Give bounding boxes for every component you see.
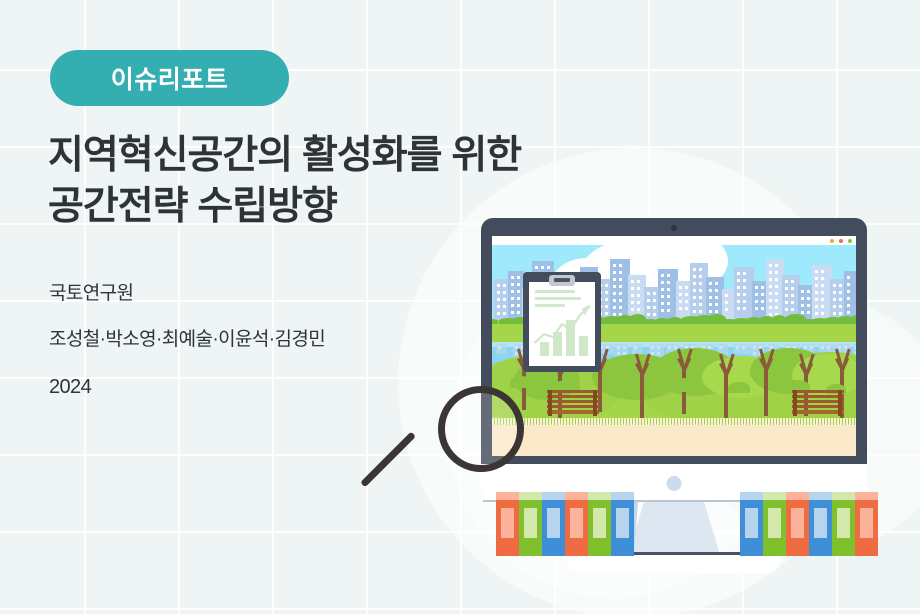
book-label	[524, 508, 537, 538]
clipboard-trend-line	[529, 282, 595, 366]
book	[855, 492, 878, 556]
book-foot	[611, 543, 634, 556]
publication-year: 2024	[49, 376, 469, 398]
clipboard-trend-arrow	[582, 305, 590, 316]
window-dot-green	[848, 239, 852, 243]
book	[763, 492, 786, 556]
book	[588, 492, 611, 556]
author-list: 조성철·박소영·최예술·이윤석·김경민	[49, 330, 469, 351]
book-label	[814, 508, 827, 538]
bench-seat	[792, 410, 844, 414]
bench-slat	[792, 395, 844, 398]
bench-slat	[547, 390, 599, 393]
clipboard-clip-inner	[554, 278, 570, 282]
monitor-base	[568, 553, 780, 573]
book-label	[501, 508, 514, 538]
book-label	[547, 508, 560, 538]
book	[611, 492, 634, 556]
book	[786, 492, 809, 556]
publication-meta: 국토연구원 조성철·박소영·최예술·이윤석·김경민 2024	[49, 284, 469, 398]
book-foot	[855, 543, 878, 556]
book-foot	[740, 543, 763, 556]
book	[740, 492, 763, 556]
book-label	[860, 508, 873, 538]
bench-slat	[792, 405, 844, 408]
book-foot	[565, 543, 588, 556]
book-label	[837, 508, 850, 538]
park-bench	[792, 390, 844, 416]
power-button	[667, 476, 682, 491]
book	[519, 492, 542, 556]
publisher-name: 국토연구원	[49, 284, 469, 305]
bench-slat	[792, 400, 844, 403]
book-label	[768, 508, 781, 538]
monitor-illustration	[481, 218, 867, 471]
bench-slat	[792, 390, 844, 393]
issue-report-badge: 이슈리포트	[50, 50, 289, 106]
clipboard-chart-content	[529, 282, 595, 366]
bench-leg	[793, 390, 797, 416]
monitor-screen	[492, 236, 856, 456]
clipboard-paper	[529, 282, 595, 366]
book	[809, 492, 832, 556]
park-bench	[547, 390, 599, 416]
poster-canvas: 이슈리포트 지역혁신공간의 활성화를 위한 공간전략 수립방향 국토연구원 조성…	[0, 0, 920, 614]
bench-leg	[593, 390, 597, 416]
magnifier-ring	[438, 386, 524, 472]
book-foot	[763, 543, 786, 556]
bench-seat	[547, 410, 599, 414]
bench-leg	[838, 390, 842, 416]
window-dot-red	[839, 239, 843, 243]
badge-label: 이슈리포트	[111, 60, 229, 96]
window-dot-orange	[830, 239, 834, 243]
book-foot	[588, 543, 611, 556]
book-foot	[786, 543, 809, 556]
bench-leg	[548, 390, 552, 416]
book-label	[593, 508, 606, 538]
book-label	[616, 508, 629, 538]
window-chrome-bar	[492, 236, 856, 245]
book	[496, 492, 519, 556]
bench-slat	[547, 400, 599, 403]
book-foot	[809, 543, 832, 556]
webcam-dot	[671, 225, 677, 231]
book-label	[570, 508, 583, 538]
book-foot	[496, 543, 519, 556]
bench-slat	[547, 405, 599, 408]
book-foot	[542, 543, 565, 556]
page-title-line-1: 지역혁신공간의 활성화를 위한	[48, 130, 648, 181]
book-label	[745, 508, 758, 538]
book-foot	[832, 543, 855, 556]
book	[832, 492, 855, 556]
clipboard-chart	[523, 272, 601, 372]
bench-slat	[547, 395, 599, 398]
book	[542, 492, 565, 556]
book-foot	[519, 543, 542, 556]
book-label	[791, 508, 804, 538]
book	[565, 492, 588, 556]
